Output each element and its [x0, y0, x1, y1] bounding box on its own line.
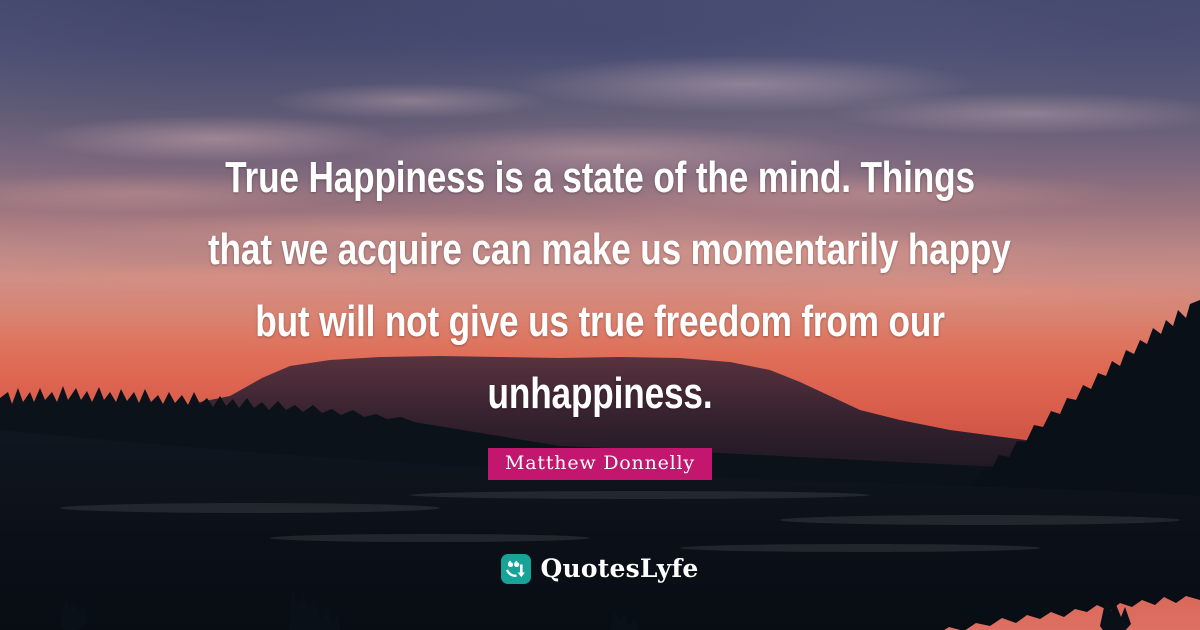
quote-smiley-icon [501, 554, 531, 584]
quote-text: True Happiness is a state of the mind. T… [0, 142, 1200, 430]
quote-line-1: True Happiness is a state of the mind. T… [208, 142, 992, 214]
quote-card: True Happiness is a state of the mind. T… [0, 0, 1200, 630]
brand-name: QuotesLyfe [540, 554, 698, 584]
brand-logo: QuotesLyfe [0, 554, 1200, 584]
quote-line-2: that we acquire can make us momentarily … [208, 214, 992, 286]
author-name-badge: Matthew Donnelly [488, 448, 712, 480]
author-attribution: Matthew Donnelly [0, 448, 1200, 480]
quote-line-4: unhappiness. [208, 358, 992, 430]
quote-line-3: but will not give us true freedom from o… [208, 286, 992, 358]
